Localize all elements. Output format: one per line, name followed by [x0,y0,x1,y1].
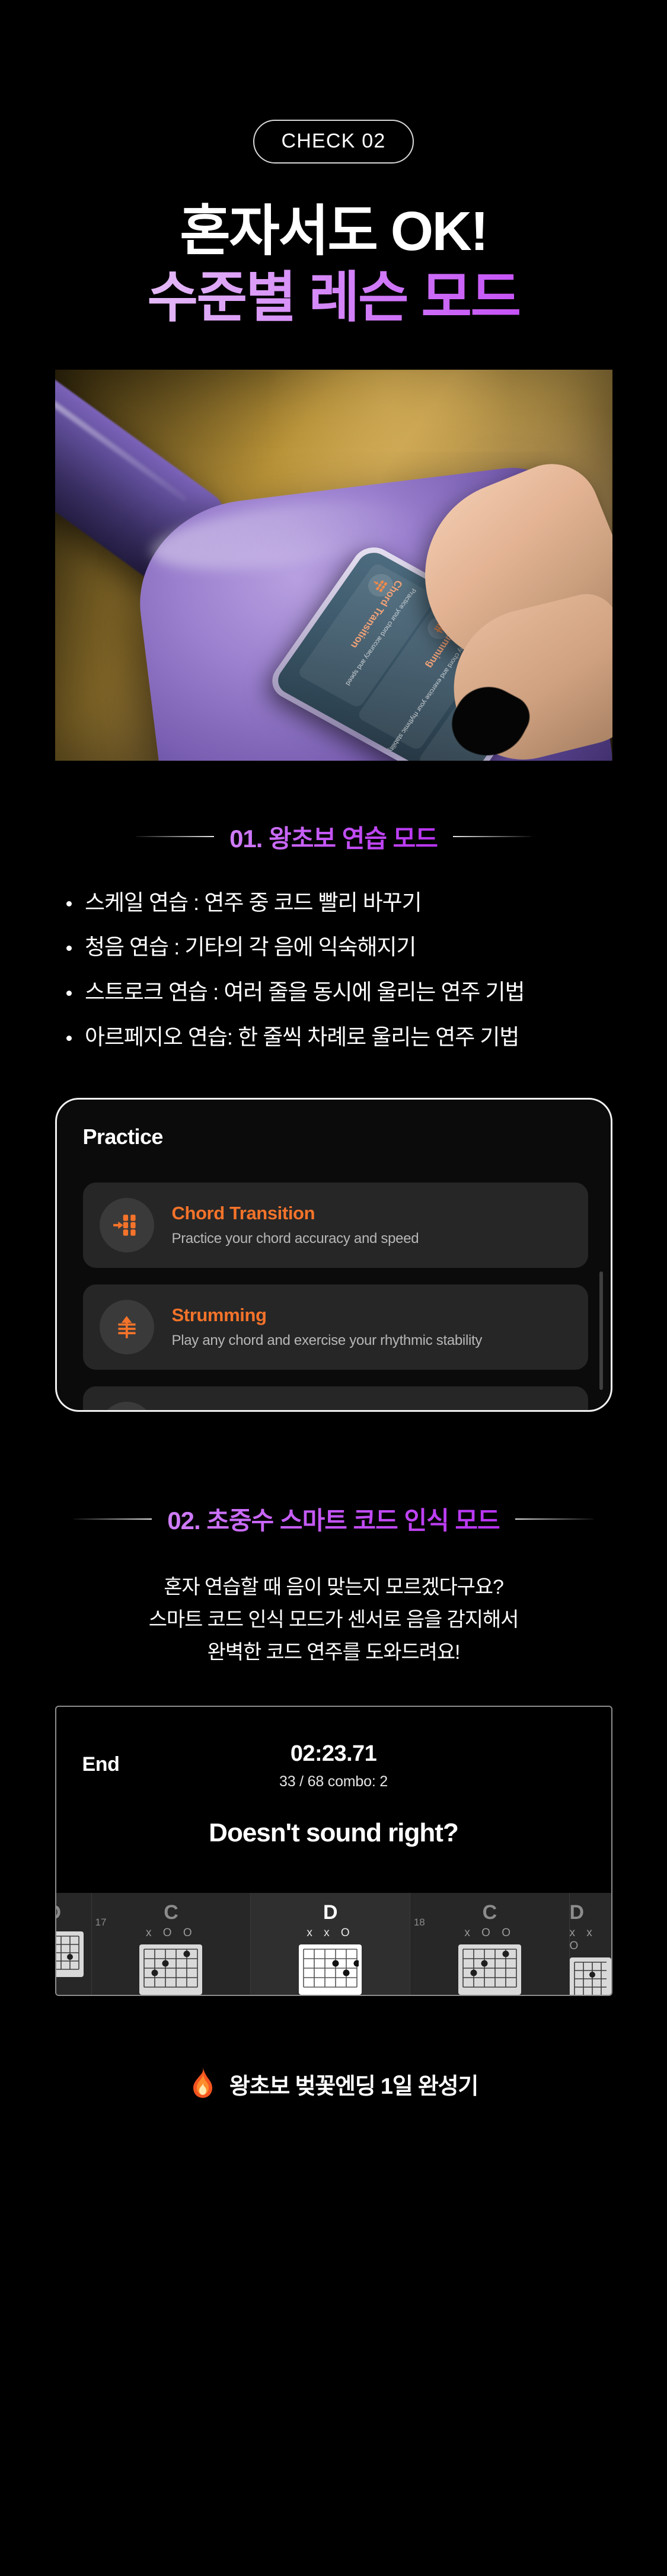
app-screenshot-mock: End 02:23.71 33 / 68 combo: 2 Doesn't so… [55,1706,612,1996]
chord-marks: x x O [570,1927,611,1953]
timer-value: 02:23.71 [56,1741,611,1767]
fire-icon [189,2066,216,2102]
list-item: 스트로크 연습 : 여러 줄을 동시에 울리는 연주 기법 [66,978,667,1007]
footer-banner: 왕초보 벚꽃엔딩 1일 완성기 [0,2066,667,2102]
fret-number: 17 [95,1917,107,1928]
feature-bullet-list: 스케일 연습 : 연주 중 코드 빨리 바꾸기 청음 연습 : 기타의 각 음에… [66,888,667,1052]
section-2-paragraph: 혼자 연습할 때 음이 맞는지 모르겠다구요? 스마트 코드 인식 모드가 센서… [0,1571,667,1669]
divider-line-right [453,836,531,837]
bullet-text: 아르페지오 연습: 한 줄씩 차례로 울리는 연주 기법 [85,1023,519,1052]
strum-arrow-icon [100,1300,154,1354]
chord-diagram [139,1944,202,1995]
arpeggio-icon [100,1402,154,1412]
section-1-header: 01. 왕초보 연습 모드 [0,819,667,855]
practice-item-arpeggio-training[interactable]: Arpeggio Training [83,1386,588,1412]
app-mock-top: End 02:23.71 33 / 68 combo: 2 Doesn't so… [56,1707,611,1895]
practice-item-list: Chord Transition Practice your chord acc… [83,1183,588,1412]
chord-diagram [570,1957,611,1996]
chord-cell: 18 C x O O [410,1893,570,1995]
chord-name: D [55,1901,61,1924]
bullet-dot-icon [66,946,72,951]
chord-diagram [458,1944,521,1995]
product-photo: Practice Chord Transition Practice your … [55,370,612,761]
divider-line-left [136,836,214,837]
check-badge: CHECK 02 [253,120,414,164]
practice-item-chord-transition[interactable]: Chord Transition Practice your chord acc… [83,1183,588,1268]
paragraph-line: 혼자 연습할 때 음이 맞는지 모르겠다구요? [0,1571,667,1604]
practice-item-desc: Play any chord and exercise your rhythmi… [172,1331,483,1350]
chord-name: C [483,1901,497,1924]
practice-card-title: Practice [83,1124,588,1149]
paragraph-line: 스마트 코드 인식 모드가 센서로 음을 감지해서 [0,1604,667,1636]
fretboard-arrow-icon [100,1198,154,1252]
divider-line-right [515,1518,593,1520]
chord-marks: x x O [307,1927,353,1940]
chord-marks: x O O [464,1927,515,1940]
practice-scrollbar[interactable] [599,1271,603,1390]
landing-page: CHECK 02 혼자서도 OK! 수준별 레슨 모드 Practice Cho… [0,0,667,2576]
hero-heading: 혼자서도 OK! 수준별 레슨 모드 [0,200,667,331]
chord-name: D [323,1901,337,1924]
divider-line-left [74,1518,152,1520]
feedback-question: Doesn't sound right? [56,1818,611,1848]
section-2-title: 02. 초중수 스마트 코드 인식 모드 [167,1501,499,1537]
practice-item-name: Chord Transition [172,1203,419,1224]
bullet-dot-icon [66,991,72,996]
chord-name: C [164,1901,178,1924]
chord-diagram [55,1931,84,1977]
list-item: 아르페지오 연습: 한 줄씩 차례로 울리는 연주 기법 [66,1023,667,1052]
bullet-dot-icon [66,1036,72,1041]
hero-line-2: 수준별 레슨 모드 [0,265,667,331]
practice-item-desc: Practice your chord accuracy and speed [172,1229,419,1248]
bullet-text: 청음 연습 : 기타의 각 음에 익숙해지기 [85,933,416,962]
fret-number: 18 [414,1917,425,1928]
bullet-text: 스트로크 연습 : 여러 줄을 동시에 울리는 연주 기법 [85,978,524,1007]
bullet-dot-icon [66,901,72,906]
badge-container: CHECK 02 [0,0,667,164]
chord-strip: D 17 C x O O D x x O [56,1893,611,1995]
hero-line-1: 혼자서도 OK! [0,200,667,262]
chord-cell: D x x O [570,1893,611,1995]
practice-item-name: Strumming [172,1305,483,1326]
practice-menu-card: Practice Chord Transition Practice your … [55,1098,612,1412]
chord-cell: D [56,1893,92,1995]
chord-marks: x O O [146,1927,196,1940]
paragraph-line: 완벽한 코드 연주를 도와드려요! [0,1636,667,1669]
chord-cell: 17 C x O O [92,1893,251,1995]
practice-item-strumming[interactable]: Strumming Play any chord and exercise yo… [83,1284,588,1370]
hero-photo-container: Practice Chord Transition Practice your … [55,370,612,761]
bullet-text: 스케일 연습 : 연주 중 코드 빨리 바꾸기 [85,888,422,918]
footer-text: 왕초보 벚꽃엔딩 1일 완성기 [229,2068,478,2100]
section-2-header: 02. 초중수 스마트 코드 인식 모드 [0,1501,667,1537]
chord-name: D [570,1901,584,1924]
list-item: 스케일 연습 : 연주 중 코드 빨리 바꾸기 [66,888,667,918]
list-item: 청음 연습 : 기타의 각 음에 익숙해지기 [66,933,667,962]
section-1-title: 01. 왕초보 연습 모드 [229,819,438,855]
chord-diagram [299,1944,362,1995]
chord-cell-active: D x x O [251,1893,410,1995]
stats-value: 33 / 68 combo: 2 [56,1773,611,1790]
